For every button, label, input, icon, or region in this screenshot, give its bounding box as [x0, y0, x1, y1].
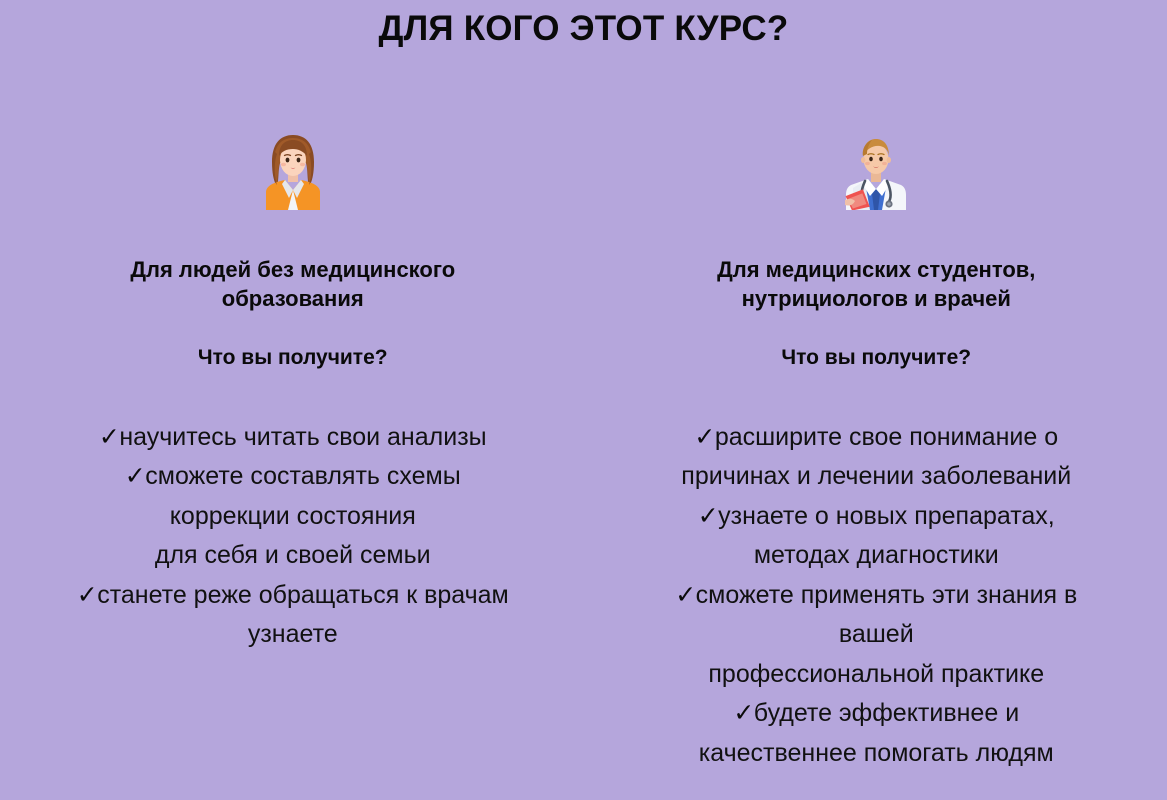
- audience-subheading: Что вы получите?: [781, 344, 971, 371]
- list-item-label: научитесь читать свои анализы: [119, 423, 486, 451]
- list-item: ✓станете реже обращаться к врачам: [77, 576, 509, 616]
- list-item: качественнее помогать людям: [675, 734, 1077, 774]
- check-icon: ✓: [675, 581, 695, 609]
- list-item: ✓будете эффективнее и: [675, 694, 1077, 734]
- list-item-label: расширите свое понимание о: [715, 423, 1058, 451]
- slide-root: ДЛЯ КОГО ЭТОТ КУРС?: [0, 0, 1167, 800]
- man-health-worker-icon: [841, 132, 911, 210]
- list-item-label: будете эффективнее и: [754, 699, 1019, 727]
- list-item: коррекции состояния: [77, 497, 509, 537]
- list-item: ✓сможете применять эти знания в: [675, 576, 1077, 616]
- check-icon: ✓: [694, 423, 714, 451]
- list-item: ✓сможете составлять схемы: [77, 457, 509, 497]
- benefit-list-medical: ✓расширите свое понимание о причинах и л…: [675, 418, 1077, 774]
- list-item-label: методах диагностики: [754, 541, 999, 569]
- audience-heading: Для людей без медицинского образования: [78, 255, 508, 314]
- check-icon: ✓: [733, 699, 753, 727]
- check-icon: ✓: [125, 462, 145, 490]
- list-item: ✓расширите свое понимание о: [675, 418, 1077, 458]
- list-item: для себя и своей семьи: [77, 536, 509, 576]
- check-icon: ✓: [99, 423, 119, 451]
- woman-office-worker-icon-wrap: [258, 132, 328, 224]
- list-item-label: причинах и лечении заболеваний: [681, 462, 1071, 490]
- man-health-worker-icon-wrap: [841, 132, 911, 224]
- benefit-list-non-medical: ✓научитесь читать свои анализы ✓сможете …: [77, 418, 509, 655]
- list-item-label: профессиональной практике: [708, 660, 1044, 688]
- list-item-label: вашей: [839, 620, 914, 648]
- audience-subheading: Что вы получите?: [198, 344, 388, 371]
- check-icon: ✓: [77, 581, 97, 609]
- list-item: ✓научитесь читать свои анализы: [77, 418, 509, 458]
- list-item-label: узнаете: [248, 620, 338, 648]
- list-item-label: узнаете о новых препаратах,: [718, 502, 1055, 530]
- list-item-label: для себя и своей семьи: [155, 541, 431, 569]
- woman-office-worker-icon: [258, 132, 328, 210]
- list-item: причинах и лечении заболеваний: [675, 457, 1077, 497]
- audience-columns: Для людей без медицинского образования Ч…: [0, 132, 1167, 773]
- list-item: профессиональной практике: [675, 655, 1077, 695]
- list-item-label: коррекции состояния: [170, 502, 416, 530]
- check-icon: ✓: [698, 502, 718, 530]
- page-title: ДЛЯ КОГО ЭТОТ КУРС?: [0, 9, 1167, 49]
- list-item: ✓узнаете о новых препаратах,: [675, 497, 1077, 537]
- audience-column-non-medical: Для людей без медицинского образования Ч…: [0, 132, 584, 655]
- list-item-label: станете реже обращаться к врачам: [97, 581, 509, 609]
- list-item: узнаете: [77, 615, 509, 655]
- list-item-label: сможете составлять схемы: [145, 462, 460, 490]
- audience-column-medical: Для медицинских студентов, нутрициологов…: [584, 132, 1167, 773]
- audience-heading: Для медицинских студентов, нутрициологов…: [661, 255, 1091, 314]
- list-item: методах диагностики: [675, 536, 1077, 576]
- list-item: вашей: [675, 615, 1077, 655]
- list-item-label: сможете применять эти знания в: [696, 581, 1078, 609]
- list-item-label: качественнее помогать людям: [699, 739, 1054, 767]
